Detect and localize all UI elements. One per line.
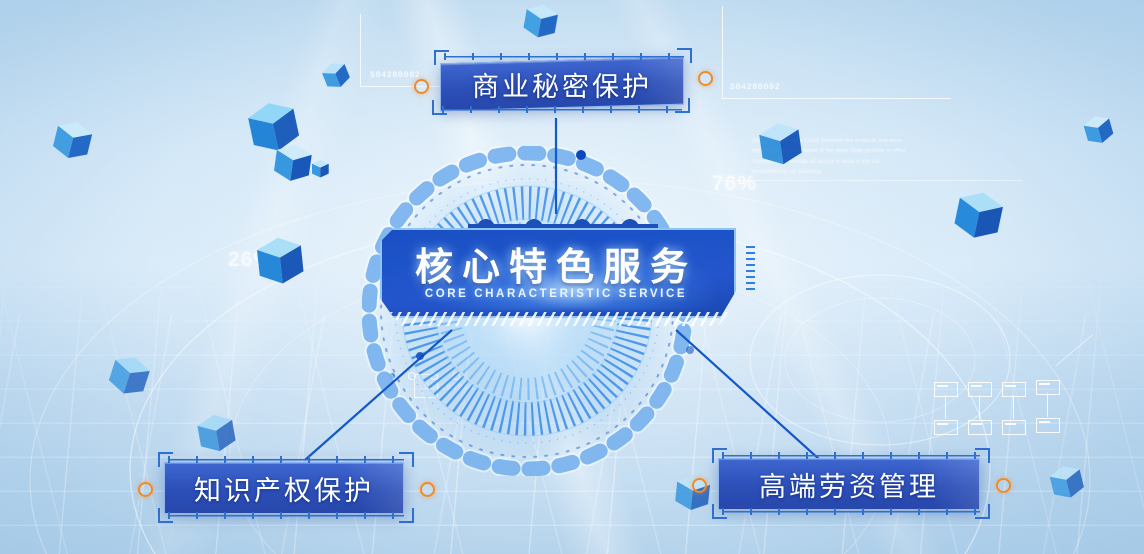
label-box-top[interactable]: 商业秘密保护 — [432, 54, 690, 112]
label-box-top-bracket-tr — [677, 48, 692, 63]
banner-hatch-stripe — [390, 312, 730, 326]
label-box-bottom-left-text: 知识产权保护 — [194, 469, 374, 508]
label-box-bottom-right-rail-upper — [722, 452, 980, 459]
label-box-bottom-left-bracket-bl — [158, 508, 173, 523]
label-box-bottom-left-marker-left — [138, 482, 153, 497]
label-box-bottom-left-body[interactable]: 知识产权保护 — [164, 462, 404, 514]
label-box-bottom-left-bracket-br — [399, 508, 414, 523]
banner-title-zh: 核心特色服务 — [380, 236, 732, 291]
label-box-top-bracket-tl — [434, 50, 449, 65]
label-box-top-marker-right — [698, 71, 713, 86]
label-box-bottom-left-marker-right — [420, 482, 435, 497]
label-box-bottom-left-bracket-tl — [158, 452, 173, 467]
label-box-top-rail-upper — [444, 53, 684, 60]
label-box-bottom-right[interactable]: 高端劳资管理 — [712, 452, 984, 514]
label-box-bottom-left[interactable]: 知识产权保护 — [158, 456, 408, 518]
label-box-bottom-right-bracket-tr — [975, 448, 990, 463]
percent-right: 76% — [712, 172, 757, 196]
label-box-top-body[interactable]: 商业秘密保护 — [440, 57, 684, 112]
label-box-bottom-right-bracket-tl — [712, 448, 727, 463]
code-right: S04280002 — [730, 83, 780, 92]
label-box-top-text: 商业秘密保护 — [472, 65, 652, 104]
banner-title-en: CORE CHARACTERISTIC SERVICE — [380, 288, 732, 300]
label-box-bottom-left-bracket-tr — [399, 452, 414, 467]
tech-line-midright — [722, 180, 1022, 181]
center-title-banner: 核心特色服务 CORE CHARACTERISTIC SERVICE — [376, 214, 748, 332]
label-box-bottom-right-marker-left — [692, 478, 707, 493]
label-box-bottom-right-bracket-bl — [712, 504, 727, 519]
banner-ladder-marker — [746, 246, 755, 292]
label-box-bottom-left-rail-lower — [168, 512, 404, 519]
label-box-bottom-right-rail-lower — [722, 508, 980, 515]
label-box-bottom-right-text: 高端劳资管理 — [759, 465, 939, 504]
label-box-bottom-right-marker-right — [996, 478, 1011, 493]
label-box-top-bracket-bl — [432, 100, 447, 115]
label-box-top-bracket-br — [675, 98, 690, 113]
infographic-scene: S04280002 S04280002 S04280004 26% 76% Gl… — [0, 0, 1144, 554]
label-box-top-rail-lower — [442, 106, 682, 113]
percent-left: 26% — [228, 248, 273, 272]
code-left: S04280002 — [370, 71, 420, 80]
label-box-bottom-left-rail-upper — [168, 456, 404, 463]
label-box-bottom-right-bracket-br — [975, 504, 990, 519]
label-box-bottom-right-body[interactable]: 高端劳资管理 — [718, 458, 980, 510]
banner-top-teeth — [468, 214, 658, 230]
label-box-top-marker-left — [414, 79, 429, 94]
tech-blurb: Global Manufacturer Could Generate the p… — [752, 136, 912, 178]
